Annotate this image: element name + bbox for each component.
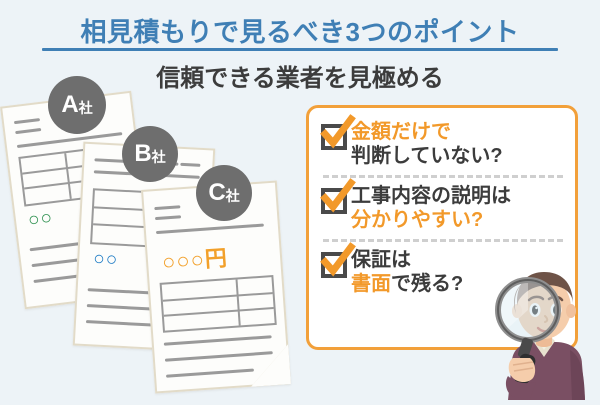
estimate-amount-a: ○○ (27, 207, 54, 232)
checklist-divider-1 (323, 175, 563, 178)
checklist-item-1[interactable]: 金額だけで 判断していない? (309, 116, 575, 173)
checkbox-2[interactable] (321, 188, 347, 214)
badge-letter-a: A (61, 93, 78, 117)
checkbox-1[interactable] (321, 124, 347, 150)
estimate-documents-group: ○○ ○○ ○○○円 (0, 70, 320, 380)
infographic-canvas: 相見積もりで見るべき3つのポイント 信頼できる業者を見極める ○○ (0, 0, 600, 400)
estimate-amount-b: ○○ (93, 248, 119, 271)
page-title: 相見積もりで見るべき3つのポイント (0, 12, 600, 49)
checklist-item-2-line1-rest: 工事内容の説明は (351, 185, 511, 207)
badge-suffix-c: 社 (226, 183, 240, 203)
checklist-item-3-line2-plain: で残る? (391, 273, 463, 295)
badge-suffix-b: 社 (152, 144, 166, 164)
checklist-item-1-text: 金額だけで 判断していない? (351, 121, 503, 168)
checklist-item-1-line1-highlight: 金額だけで (351, 121, 451, 143)
checklist-item-2-line2-highlight: 分かりやすい? (351, 209, 483, 231)
company-badge-b: B社 (122, 126, 178, 182)
company-badge-a: A社 (48, 76, 106, 134)
checklist-item-3-line1-rest: 保証は (351, 249, 411, 271)
checklist-item-3-line2-highlight: 書面 (351, 273, 391, 295)
estimate-amount-c: ○○○円 (161, 240, 229, 277)
checkbox-3[interactable] (321, 252, 347, 278)
title-divider (42, 48, 558, 51)
checklist-item-3-text: 保証は 書面で残る? (351, 249, 463, 296)
person-with-magnifier-illustration (486, 258, 600, 400)
badge-letter-c: C (208, 181, 225, 205)
checklist-divider-2 (323, 239, 563, 242)
checklist-item-2[interactable]: 工事内容の説明は 分かりやすい? (309, 180, 575, 237)
company-badge-c: C社 (196, 165, 252, 221)
badge-letter-b: B (134, 142, 151, 166)
badge-suffix-a: 社 (79, 95, 93, 115)
checklist-item-2-text: 工事内容の説明は 分かりやすい? (351, 185, 511, 232)
checklist-item-1-line2-plain: 判断していない? (351, 145, 503, 167)
